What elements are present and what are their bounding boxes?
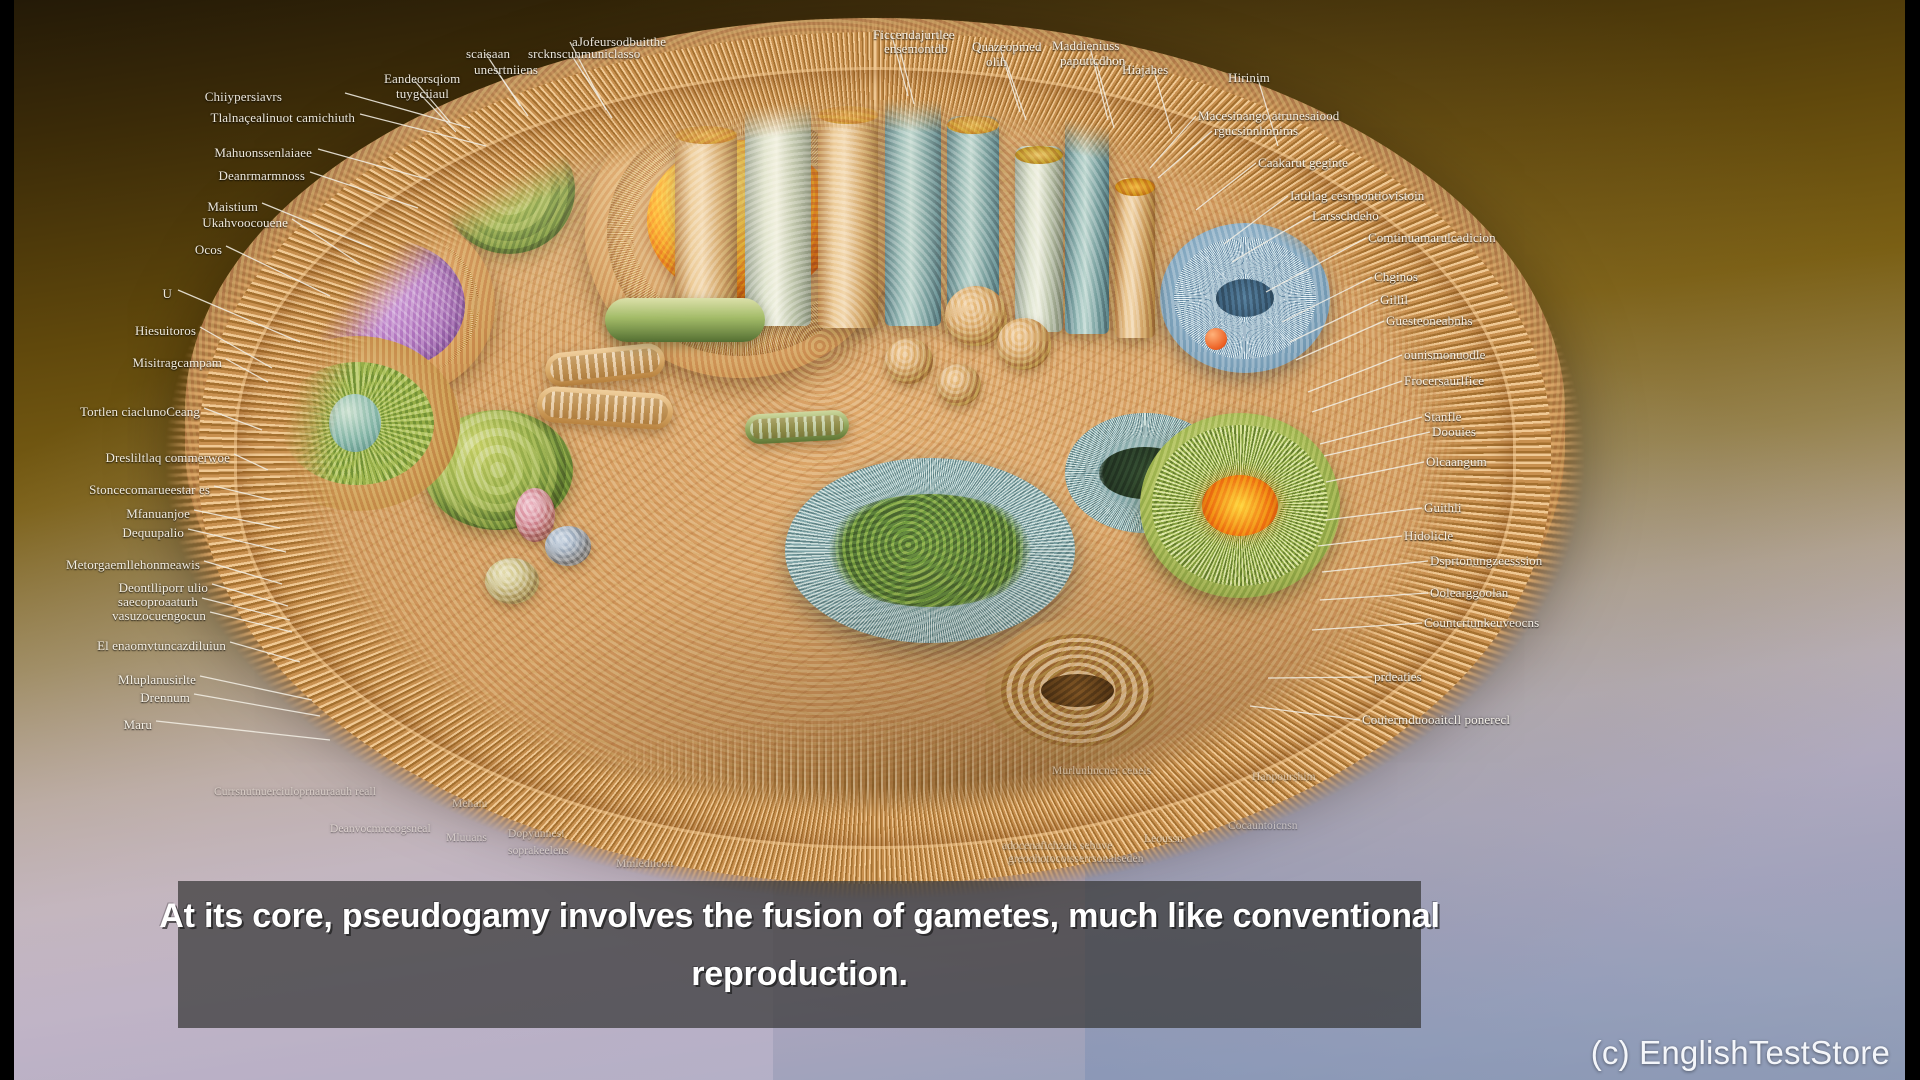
diagram-label: Hanpourshim (1252, 771, 1316, 783)
diagram-label: scaisaan (466, 46, 510, 62)
diagram-label: soprakeelens (508, 845, 569, 857)
diagram-label: Maru (123, 717, 152, 733)
cell-illustration (185, 18, 1565, 898)
diagram-label: ensemontdb (884, 41, 948, 57)
diagram-label: Hiajahes (1122, 62, 1168, 78)
diagram-label: Chiiypersiavrs (205, 89, 282, 105)
diagram-label: Murlunhncner ceueis (1052, 765, 1151, 777)
diagram-label: paputtcdhon (1060, 53, 1125, 69)
watermark: (c) EnglishTestStore (1591, 1034, 1890, 1072)
diagram-label: ounismonuodle (1404, 347, 1485, 363)
diagram-label: Leoussn (1144, 833, 1183, 845)
cell-body (185, 18, 1565, 838)
diagram-label: Guithli (1424, 500, 1462, 516)
diagram-label: rgucsinnhnnims (1214, 123, 1298, 139)
diagram-label: El enaomvtuncazdiluiun (97, 638, 226, 654)
diagram-label: Deanrmarmnoss (219, 168, 306, 184)
diagram-label: Doouies (1432, 424, 1476, 440)
diagram-label: olih (986, 54, 1007, 70)
subtitle-line-2: reproduction. (691, 945, 908, 1003)
diagram-label: Maistium (207, 199, 258, 215)
subtitle-line-1: At its core, pseudogamy involves the fus… (159, 887, 1439, 945)
diagram-label: vasuzocuengocun (112, 608, 206, 624)
diagram-label: Stanfle (1424, 409, 1462, 425)
diagram-label: Macesinango atrunesaiood (1198, 108, 1339, 124)
diagram-label: Mluuans (446, 832, 487, 844)
organelle-green-slab (605, 298, 765, 342)
pillarbox-right (1905, 0, 1920, 1080)
diagram-label: Chginos (1374, 269, 1418, 285)
diagram-label: Stoncecomarueestar es (89, 482, 210, 498)
pillarbox-left (0, 0, 14, 1080)
diagram-label: Drennum (140, 690, 190, 706)
diagram-label: Mluplanusirlte (118, 672, 196, 688)
organelle-orange-dot (1205, 328, 1227, 350)
diagram-label: Caakarut geginte (1258, 155, 1348, 171)
diagram-label: Hidolicle (1404, 528, 1453, 544)
diagram-label: adocenafichzals sebuve (1002, 840, 1112, 852)
diagram-label: Maddieniuss (1052, 38, 1120, 54)
diagram-label: Tortlen ciaclunoCeang (80, 404, 200, 420)
subtitle-caption: At its core, pseudogamy involves the fus… (178, 881, 1421, 1028)
organelle-mitochondrion-3 (744, 409, 849, 444)
diagram-label: Hiesuitoros (135, 323, 196, 339)
diagram-label: Currsnutnuerciuloprnauraauh reall (214, 786, 376, 798)
diagram-label: Frocersaurlfice (1404, 373, 1484, 389)
diagram-label: srcknscunmuniclasso (528, 46, 640, 62)
diagram-label: Cocauntoicnsn (1228, 820, 1298, 832)
diagram-label: Olcaangum (1426, 454, 1487, 470)
diagram-label: Larsschdeho (1312, 208, 1379, 224)
diagram-label: Mahuonssenlaiaee (214, 145, 312, 161)
diagram-label: Mmlediicon (616, 858, 673, 870)
diagram-label: Dsprtonungzeesssion (1430, 553, 1542, 569)
diagram-label: Ukahvoocouene (202, 215, 288, 231)
diagram-label: greoohotocotsserrsonalseden (1008, 853, 1144, 865)
diagram-label: Dopyunnesi (508, 828, 565, 840)
diagram-label: Misitragcampam (133, 355, 223, 371)
diagram-label: Iatillag cesnpontiovistoin (1290, 188, 1424, 204)
diagram-label: Eandeorsqiom (384, 71, 460, 87)
diagram-label: Couiermduooaitcll ponerecl (1362, 712, 1510, 728)
diagram-label: U (163, 286, 173, 302)
diagram-label: Dresliltlaq commerwoe (106, 450, 230, 466)
diagram-label: Comtinuamarulcadicion (1368, 230, 1496, 246)
diagram-label: Oolearggoolan (1430, 585, 1508, 601)
diagram-label: Dequupalio (122, 525, 184, 541)
diagram-label: tuygciiaul (396, 86, 449, 102)
diagram-label: Tlalnaçealinuot camichiuth (211, 110, 355, 126)
diagram-label: Countcrtunkeuveocns (1424, 615, 1539, 631)
diagram-label: unesrtniiens (474, 62, 538, 78)
diagram-label: Guesteoneabnhs (1386, 313, 1473, 329)
video-frame: ChiiypersiavrsTlalnaçealinuot camichiuth… (0, 0, 1920, 1080)
diagram-label: Quazeopmed (972, 39, 1042, 55)
diagram-label: prdeaties (1374, 669, 1422, 685)
diagram-label: Mehanı (452, 798, 488, 810)
diagram-label: Ocos (195, 242, 222, 258)
diagram-label: Gillil (1380, 292, 1408, 308)
diagram-label: Hirinim (1228, 70, 1270, 86)
diagram-label: Metorgaemllehonmeawis (66, 557, 200, 573)
diagram-label: Deanvocmrccogsneal (330, 823, 431, 835)
diagram-label: Mfanuanjoe (126, 506, 190, 522)
